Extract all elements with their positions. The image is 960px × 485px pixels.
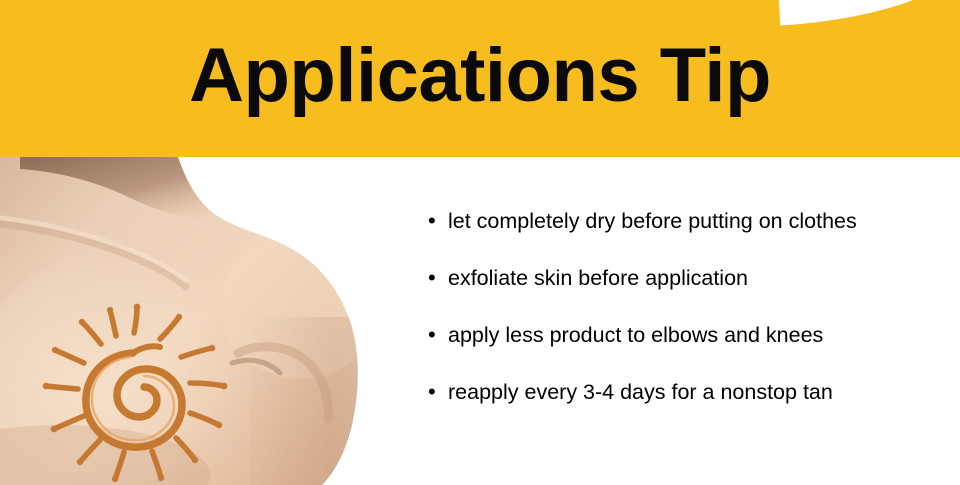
bullet-icon: • <box>428 381 448 403</box>
tanning-photo <box>0 157 420 485</box>
page-title: Applications Tip <box>0 0 960 157</box>
infographic-page: Applications Tip <box>0 0 960 485</box>
list-item: • reapply every 3-4 days for a nonstop t… <box>428 381 952 438</box>
bullet-icon: • <box>428 267 448 289</box>
tip-text: exfoliate skin before application <box>448 268 748 290</box>
tip-text: let completely dry before putting on clo… <box>448 211 857 233</box>
tanning-photo-illustration <box>0 157 420 485</box>
list-item: • let completely dry before putting on c… <box>428 210 952 267</box>
header-banner: Applications Tip <box>0 0 960 157</box>
tips-list: • let completely dry before putting on c… <box>428 210 952 438</box>
bullet-icon: • <box>428 324 448 346</box>
list-item: • exfoliate skin before application <box>428 267 952 324</box>
tip-text: reapply every 3-4 days for a nonstop tan <box>448 382 833 404</box>
list-item: • apply less product to elbows and knees <box>428 324 952 381</box>
tip-text: apply less product to elbows and knees <box>448 325 823 347</box>
bullet-icon: • <box>428 210 448 232</box>
